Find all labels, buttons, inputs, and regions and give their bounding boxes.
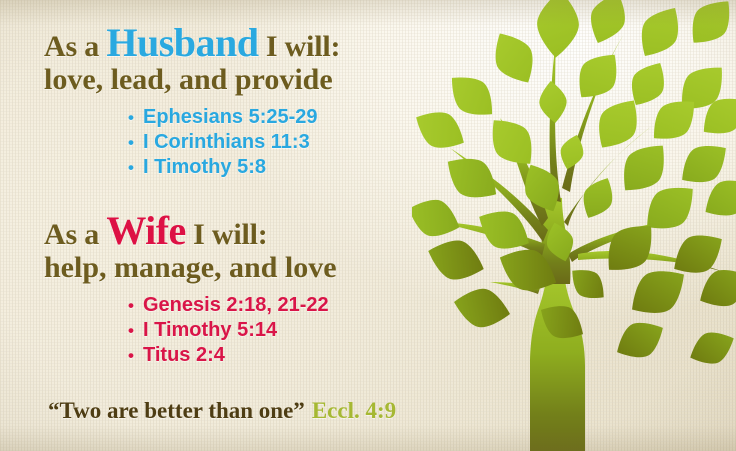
husband-headline: As a Husband I will: <box>44 26 340 63</box>
husband-section: As a Husband I will: love, lead, and pro… <box>44 26 340 180</box>
bottom-quote: “Two are better than one”Eccl. 4:9 <box>48 397 396 424</box>
text-content: As a Husband I will: love, lead, and pro… <box>0 0 470 451</box>
wife-headline-prefix: As a <box>44 218 106 251</box>
wife-keyword: Wife <box>106 208 185 253</box>
husband-headline-prefix: As a <box>44 30 106 63</box>
husband-keyword: Husband <box>106 20 258 65</box>
husband-reference-list: Ephesians 5:25-29 I Corinthians 11:3 I T… <box>44 105 340 180</box>
wife-reference-list: Genesis 2:18, 21-22 I Timothy 5:14 Titus… <box>44 293 337 368</box>
wife-headline-suffix: I will: <box>186 218 268 251</box>
husband-subline: love, lead, and provide <box>44 63 340 97</box>
list-item: Titus 2:4 <box>128 343 337 368</box>
wife-headline: As a Wife I will: <box>44 214 337 251</box>
wife-subline: help, manage, and love <box>44 251 337 285</box>
list-item: Ephesians 5:25-29 <box>128 105 340 130</box>
wife-section: As a Wife I will: help, manage, and love… <box>44 214 337 368</box>
list-item: I Corinthians 11:3 <box>128 130 340 155</box>
poster-canvas: As a Husband I will: love, lead, and pro… <box>0 0 736 451</box>
quote-reference: Eccl. 4:9 <box>312 398 396 423</box>
husband-headline-suffix: I will: <box>259 30 341 63</box>
quote-text: “Two are better than one” <box>48 398 305 423</box>
list-item: Genesis 2:18, 21-22 <box>128 293 337 318</box>
list-item: I Timothy 5:14 <box>128 318 337 343</box>
list-item: I Timothy 5:8 <box>128 155 340 180</box>
